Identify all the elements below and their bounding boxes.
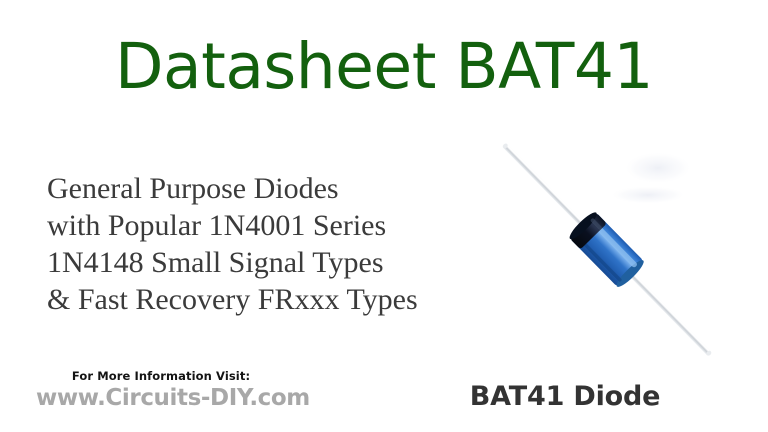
diode-photo [462,120,752,380]
page-title: Datasheet BAT41 [0,34,768,100]
description-line: with Popular 1N4001 Series [47,207,477,244]
diode-lead-cathode [628,271,712,356]
footer-branding: For More Information Visit: www.Circuits… [36,368,286,412]
description-line: 1N4148 Small Signal Types [47,244,477,281]
website-url[interactable]: www.Circuits-DIY.com [36,384,286,412]
product-caption: BAT41 Diode [430,381,700,412]
reflection-artifact [610,152,692,204]
footer-lead-text: For More Information Visit: [36,368,286,384]
description-line: & Fast Recovery FRxxx Types [47,281,477,318]
diode-lead-anode [502,143,586,228]
description-block: General Purpose Diodes with Popular 1N40… [47,170,477,318]
description-line: General Purpose Diodes [47,170,477,207]
datasheet-cover: Datasheet BAT41 General Purpose Diodes w… [0,0,768,432]
